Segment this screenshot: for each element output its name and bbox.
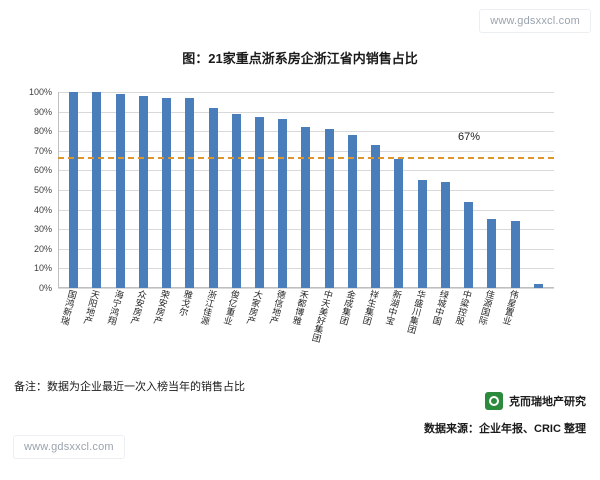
brand-block: 克而瑞地产研究 [485,392,586,410]
threshold-line [58,157,554,159]
bar-slot [62,92,85,288]
bar-slot [318,92,341,288]
bar [371,145,380,288]
bar-series [58,92,554,288]
x-label-slot [527,290,550,368]
brand-name: 克而瑞地产研究 [509,393,586,409]
bar-slot [480,92,503,288]
wechat-icon [485,392,503,410]
bar-slot [341,92,364,288]
bar-slot [108,92,131,288]
bar-slot [85,92,108,288]
page-title: 图：21家重点浙系房企浙江省内销售占比 [0,48,600,67]
bar-slot [248,92,271,288]
watermark-top: www.gdsxxcl.com [480,10,590,32]
y-axis-tick: 30% [8,224,52,234]
bar-slot [225,92,248,288]
chart-source: 数据来源：企业年报、CRIC 整理 [424,420,586,436]
bar [278,119,287,288]
gridline [58,288,554,289]
bar [185,98,194,288]
bar [325,129,334,288]
bar [232,114,241,288]
bar [441,182,450,288]
y-axis-tick: 0% [8,283,52,293]
threshold-label: 67% [458,131,480,143]
bar [92,92,101,288]
bar-slot [364,92,387,288]
y-axis-tick: 90% [8,107,52,117]
bar [301,127,310,288]
chart-plot-area: 67% 0%10%20%30%40%50%60%70%80%90%100% [58,92,554,288]
bar [69,92,78,288]
bar [487,219,496,288]
x-label-slot: 伟星置业 [503,290,526,368]
y-axis-tick: 60% [8,165,52,175]
bar [511,221,520,288]
y-axis-tick: 40% [8,205,52,215]
bar-slot [294,92,317,288]
bar-slot [201,92,224,288]
bar [162,98,171,288]
y-axis-tick: 50% [8,185,52,195]
bar [139,96,148,288]
y-axis-tick: 80% [8,126,52,136]
chart-note: 备注：数据为企业最近一次入榜当年的销售占比 [14,378,245,394]
bar [464,202,473,288]
bar-slot [155,92,178,288]
watermark-bottom: www.gdsxxcl.com [14,436,124,458]
bar-slot [271,92,294,288]
bar-slot [178,92,201,288]
bar [209,108,218,288]
y-axis-tick: 10% [8,263,52,273]
bar-slot [457,92,480,288]
bar [255,117,264,288]
bar [116,94,125,288]
x-axis-labels: 国鸿新瑞天阳地产海宁鸿翔众安房产荣安房产雅戈尔浙江佳源俊亿重业大家房产德信地产禾… [58,290,554,368]
bar-slot [527,92,550,288]
bar [394,159,403,288]
bar-slot [387,92,410,288]
bar-slot [132,92,155,288]
y-axis-tick: 20% [8,244,52,254]
bar-slot [503,92,526,288]
y-axis-tick: 100% [8,87,52,97]
bar [534,284,543,288]
bar-slot [434,92,457,288]
y-axis-tick: 70% [8,146,52,156]
bar-slot [411,92,434,288]
bar [418,180,427,288]
